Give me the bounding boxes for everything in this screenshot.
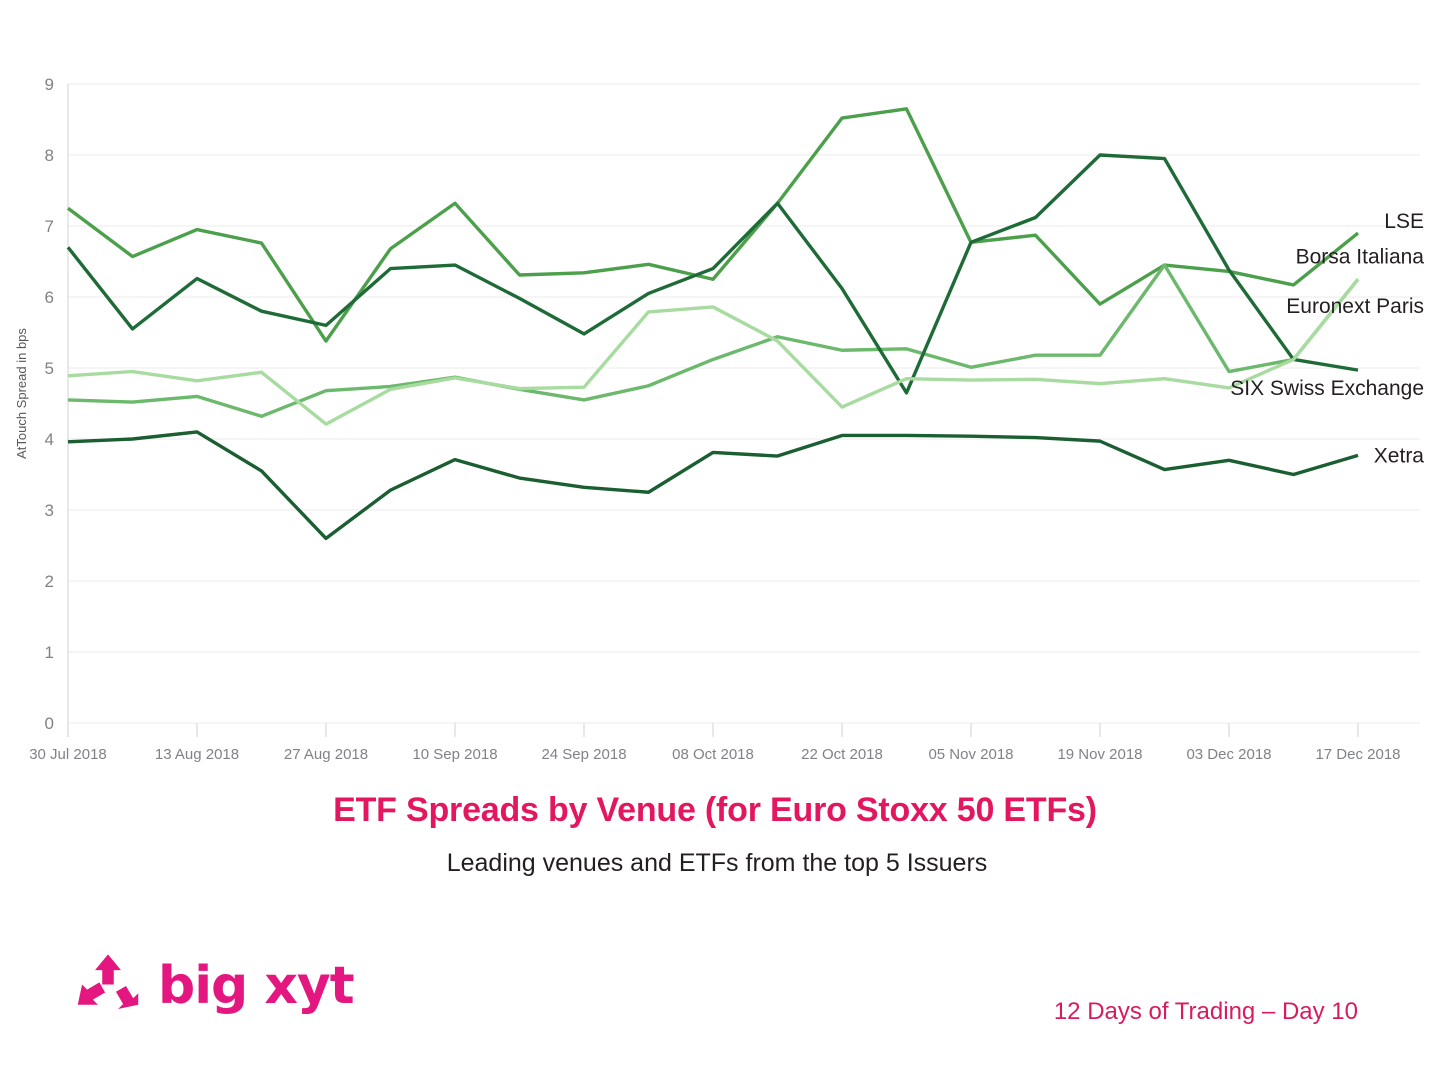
y-axis-tick-label: 3 (45, 501, 54, 520)
x-axis-tick-label: 24 Sep 2018 (541, 746, 626, 763)
x-axis-tick-label: 17 Dec 2018 (1315, 746, 1400, 763)
y-axis-tick-label: 1 (45, 643, 54, 662)
x-axis-tick-label: 05 Nov 2018 (928, 746, 1013, 763)
x-axis-tick-label: 27 Aug 2018 (284, 746, 368, 763)
series-label-euronext-paris: Euronext Paris (1286, 295, 1424, 318)
y-axis-tick-label: 6 (45, 288, 54, 307)
slide-root: 0123456789AtTouch Spread in bps30 Jul 20… (0, 0, 1430, 1072)
x-axis-tick-label: 10 Sep 2018 (412, 746, 497, 763)
chart-svg: 0123456789AtTouch Spread in bps30 Jul 20… (0, 0, 1430, 775)
series-label-lse: LSE (1384, 210, 1424, 233)
footer-note: 12 Days of Trading – Day 10 (1054, 998, 1358, 1026)
page-subtitle: Leading venues and ETFs from the top 5 I… (0, 849, 1430, 878)
y-axis-tick-label: 2 (45, 572, 54, 591)
x-axis-tick-label: 19 Nov 2018 (1057, 746, 1142, 763)
x-axis-tick-label: 08 Oct 2018 (672, 746, 754, 763)
x-axis-tick-label: 22 Oct 2018 (801, 746, 883, 763)
page-title: ETF Spreads by Venue (for Euro Stoxx 50 … (0, 792, 1430, 829)
logo-wordmark: big xyt (158, 960, 354, 1012)
x-axis-tick-label: 30 Jul 2018 (29, 746, 107, 763)
series-line-euronext-paris[interactable] (68, 155, 1358, 393)
line-chart: 0123456789AtTouch Spread in bps30 Jul 20… (0, 0, 1430, 775)
series-label-six-swiss-exchange: SIX Swiss Exchange (1230, 377, 1424, 400)
series-label-borsa-italiana: Borsa Italiana (1296, 245, 1425, 268)
series-label-xetra: Xetra (1374, 444, 1425, 467)
series-line-xetra[interactable] (68, 432, 1358, 539)
y-axis-tick-label: 0 (45, 714, 54, 733)
y-axis-tick-label: 4 (45, 430, 54, 449)
y-axis-tick-label: 7 (45, 217, 54, 236)
y-axis-tick-label: 9 (45, 75, 54, 94)
y-axis-title: AtTouch Spread in bps (14, 328, 29, 459)
series-line-six-swiss-exchange[interactable] (68, 279, 1358, 424)
y-axis-tick-label: 5 (45, 359, 54, 378)
x-axis-tick-label: 03 Dec 2018 (1186, 746, 1271, 763)
big-xyt-arrows-icon (72, 950, 144, 1022)
brand-logo: big xyt (72, 950, 354, 1022)
title-block: ETF Spreads by Venue (for Euro Stoxx 50 … (0, 792, 1430, 878)
x-axis-tick-label: 13 Aug 2018 (155, 746, 239, 763)
series-line-borsa-italiana[interactable] (68, 265, 1358, 416)
y-axis-tick-label: 8 (45, 146, 54, 165)
